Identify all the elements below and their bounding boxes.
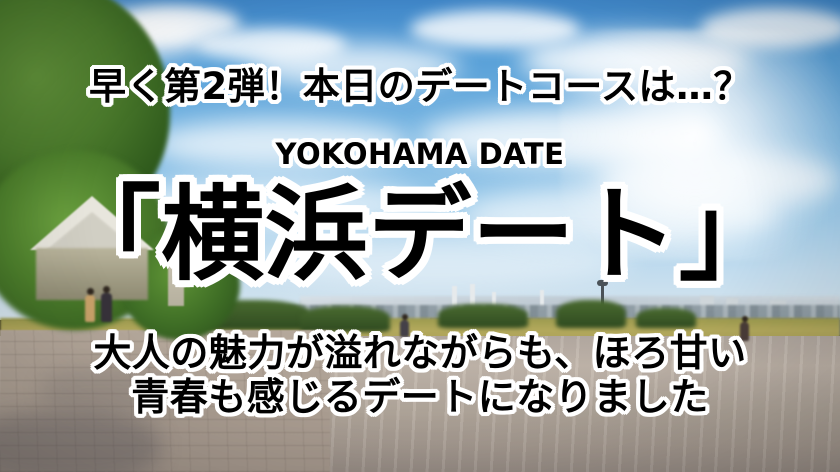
romaji-label-fill: YOKOHAMA DATE bbox=[342, 142, 498, 158]
romaji-label: YOKOHAMA DATE bbox=[0, 140, 840, 159]
caption-line-1: 大人の魅力が溢れながらも、ほろ甘い bbox=[0, 334, 840, 353]
caption-line-2-fill: 青春も感じるデートになりました bbox=[300, 380, 540, 396]
main-title-fill: 「横浜デート」 bbox=[364, 186, 476, 202]
thumbnail-canvas: 早く第2弾！本日のデートコースは…？ 早く第2弾！本日のデートコースは…？ YO… bbox=[0, 0, 840, 472]
subtitle-line-top: 早く第2弾！本日のデートコースは…？ bbox=[0, 68, 840, 87]
caption-line-2: 青春も感じるデートになりました bbox=[0, 378, 840, 397]
caption-line-1-fill: 大人の魅力が溢れながらも、ほろ甘い bbox=[284, 336, 556, 352]
text-overlay: 早く第2弾！本日のデートコースは…？ 早く第2弾！本日のデートコースは…？ YO… bbox=[0, 0, 840, 472]
main-title: 「横浜デート」 bbox=[0, 184, 840, 203]
subtitle-line-top-fill: 早く第2弾！本日のデートコースは…？ bbox=[279, 70, 561, 86]
